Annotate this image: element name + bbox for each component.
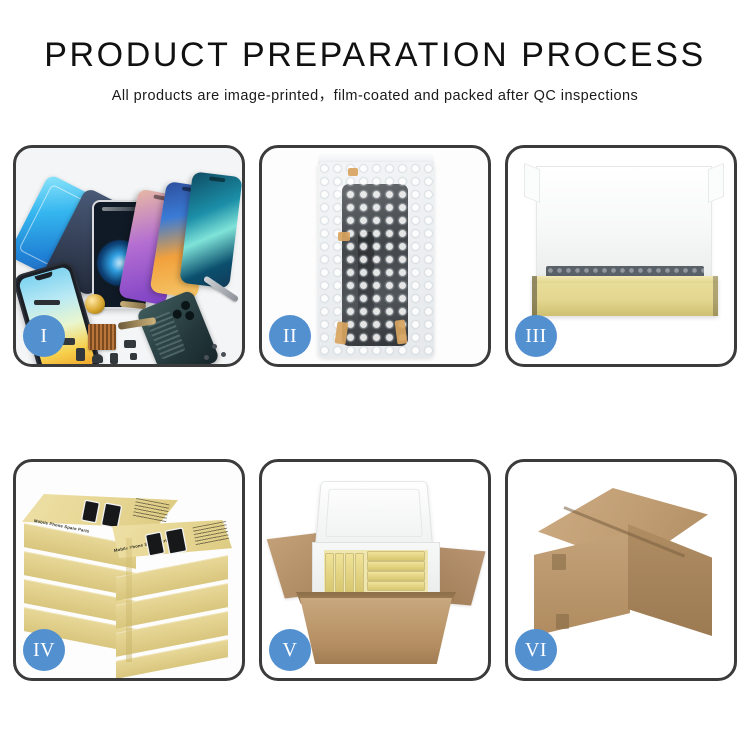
foam-sheet-icon <box>536 166 712 278</box>
process-step-panel-1: I <box>13 145 245 367</box>
step-badge-4: IV <box>23 629 65 671</box>
speaker-coil-icon <box>85 294 105 314</box>
step-badge-5: V <box>269 629 311 671</box>
screw-icon <box>221 352 226 357</box>
tape-piece <box>338 232 350 241</box>
box-lip <box>532 276 718 283</box>
tape-patch <box>556 614 569 629</box>
yellow-box <box>346 554 353 592</box>
carton-front-face <box>534 532 630 636</box>
yellow-box-flat <box>368 582 424 590</box>
styrofoam-lid-icon <box>315 481 433 547</box>
yellow-inner-box-icon <box>532 276 718 316</box>
yellow-box <box>356 554 363 592</box>
chip-grid-icon <box>88 324 116 350</box>
process-step-panel-5: V <box>259 459 491 681</box>
tape-patch <box>552 554 566 570</box>
carton-body-icon <box>300 598 452 664</box>
carton-side-face <box>628 524 712 636</box>
page-title: PRODUCT PREPARATION PROCESS <box>0 38 750 74</box>
tape-piece <box>348 168 358 176</box>
bubble-texture <box>318 162 434 358</box>
step-badge-1: I <box>23 315 65 357</box>
screen-highlight <box>102 207 138 211</box>
small-part <box>76 348 85 361</box>
yellow-box <box>336 554 343 592</box>
box-edge <box>532 276 537 316</box>
process-step-panel-2: II <box>259 145 491 367</box>
step-badge-2: II <box>269 315 311 357</box>
small-part <box>110 353 118 364</box>
yellow-box-flat <box>368 572 424 580</box>
small-part <box>124 340 136 348</box>
yellow-box-flat <box>368 552 424 560</box>
small-part <box>92 354 103 363</box>
process-step-grid: I II III <box>13 145 737 681</box>
stack-seam <box>126 538 132 662</box>
antenna-strip-icon <box>34 300 60 305</box>
notch <box>209 176 225 182</box>
camera-lens-icon <box>180 300 192 312</box>
screw-icon <box>212 344 217 349</box>
yellow-box <box>326 554 333 592</box>
bubble-wrap-bag-icon <box>318 162 434 358</box>
box-edge <box>713 276 718 316</box>
step-badge-6: VI <box>515 629 557 671</box>
process-step-panel-6: VI <box>505 459 737 681</box>
process-step-panel-3: III <box>505 145 737 367</box>
step-badge-3: III <box>515 315 557 357</box>
screw-icon <box>204 355 209 360</box>
page-subtitle: All products are image-printed，film-coat… <box>0 84 750 105</box>
packed-boxes-area <box>324 550 428 594</box>
yellow-box-flat <box>368 562 424 570</box>
page-header: PRODUCT PREPARATION PROCESS All products… <box>0 0 750 105</box>
process-step-panel-4: Mobile Phone Spare Parts Mobile Phone Sp… <box>13 459 245 681</box>
small-part <box>130 353 137 360</box>
